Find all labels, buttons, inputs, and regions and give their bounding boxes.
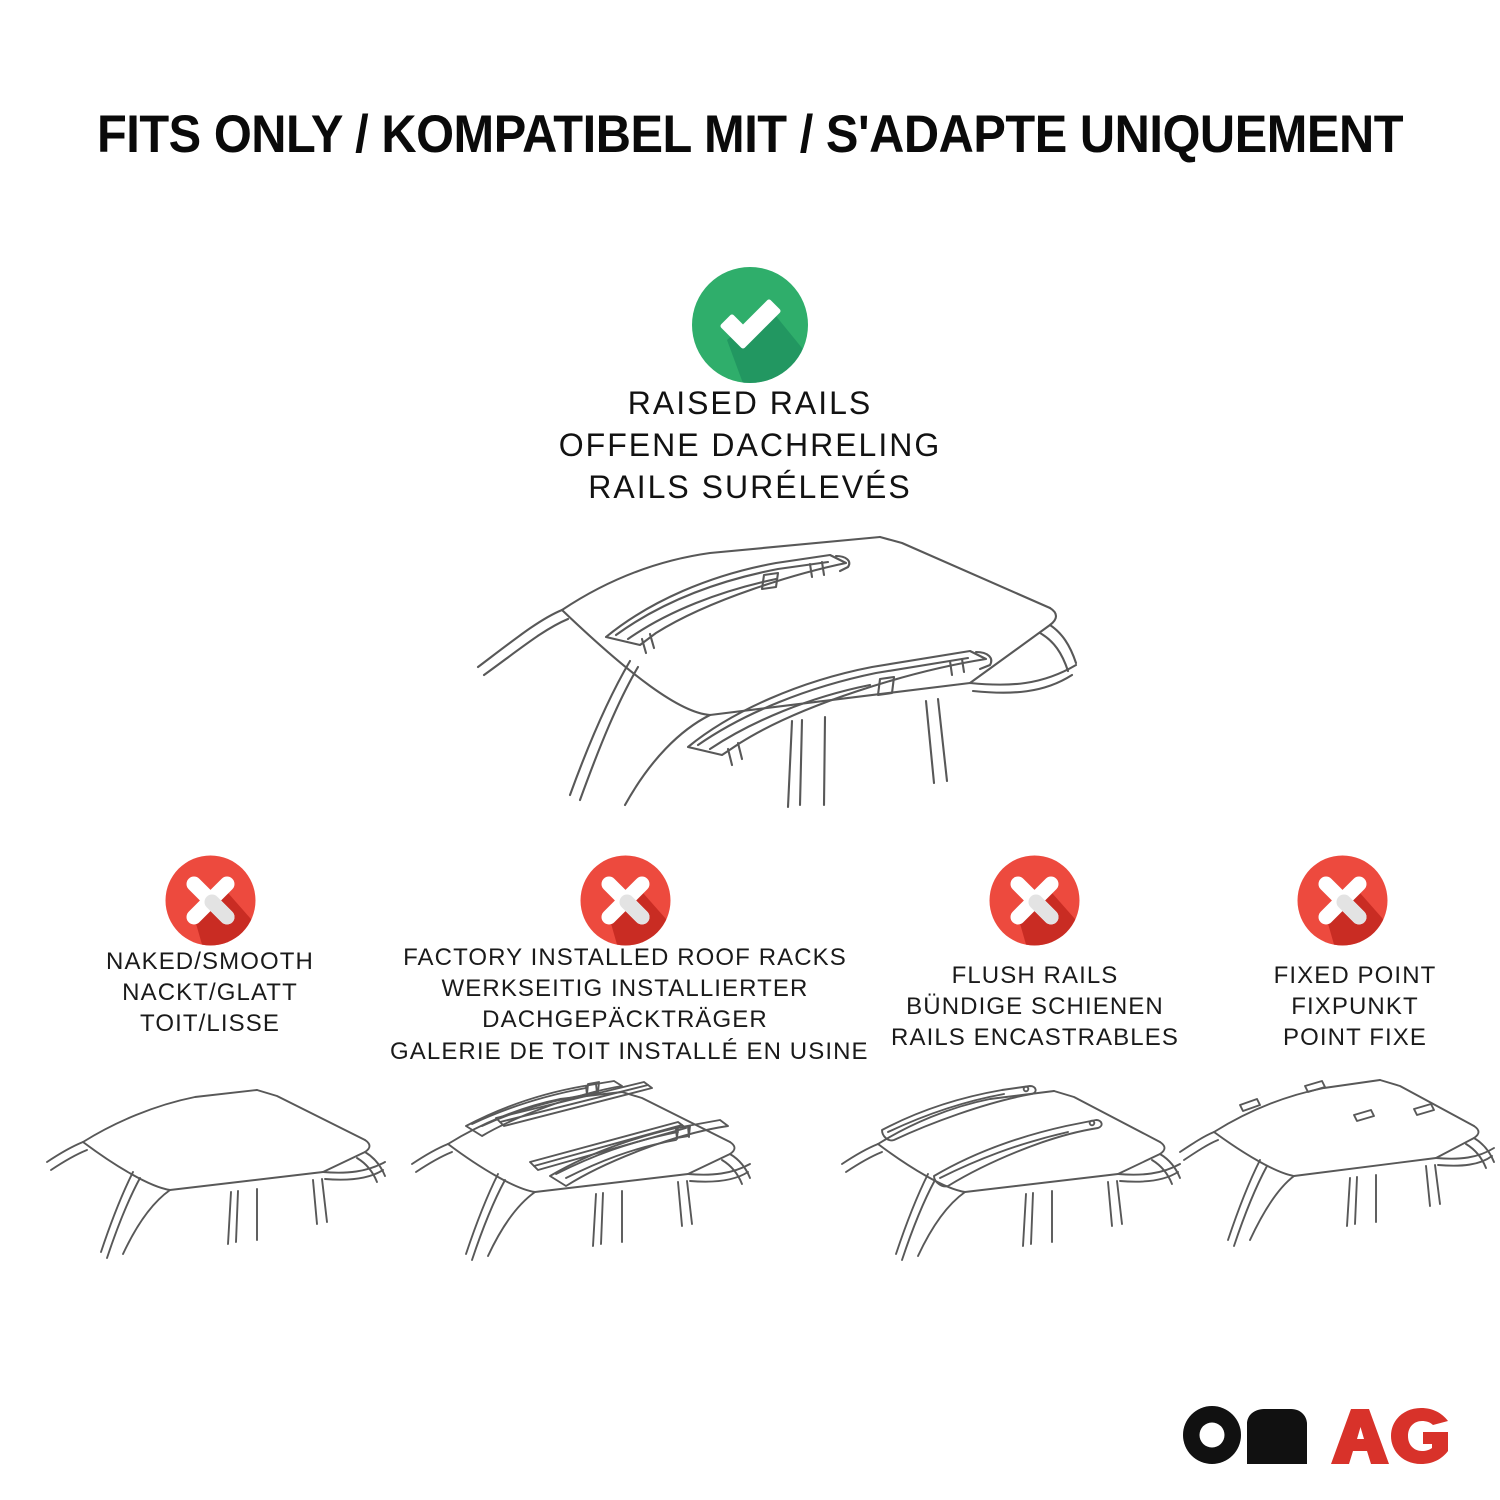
- page-title: FITS ONLY / KOMPATIBEL MIT / S'ADAPTE UN…: [60, 104, 1440, 165]
- label-line-2: FIXPUNKT: [1215, 991, 1495, 1022]
- roof-fixed-point-illustration: [1178, 1068, 1498, 1293]
- logo-letter-c: [1391, 1408, 1448, 1464]
- label-line-2: BÜNDIGE SCHIENEN: [855, 991, 1215, 1022]
- fitment-guide-page: FITS ONLY / KOMPATIBEL MIT / S'ADAPTE UN…: [0, 0, 1500, 1500]
- roof-flush-rails-illustration: [838, 1068, 1203, 1293]
- omac-logo: [1183, 1406, 1448, 1464]
- compatible-label: RAISED RAILS OFFENE DACHRELING RAILS SUR…: [0, 382, 1500, 509]
- label-line-2: WERKSEITIG INSTALLIERTER: [390, 973, 860, 1004]
- roof-with-raised-rails-illustration: [410, 515, 1100, 815]
- label-line-2: NACKT/GLATT: [35, 977, 385, 1008]
- compatible-label-line-1: RAISED RAILS: [0, 382, 1500, 424]
- label-line-3: DACHGEPÄCKTRÄGER: [390, 1004, 860, 1035]
- roof-naked-smooth-illustration: [45, 1072, 395, 1292]
- label-line-3: RAILS ENCASTRABLES: [855, 1022, 1215, 1053]
- label-line-1: NAKED/SMOOTH: [35, 946, 385, 977]
- label-line-1: FACTORY INSTALLED ROOF RACKS: [390, 942, 860, 973]
- label-line-1: FLUSH RAILS: [855, 960, 1215, 991]
- cross-circle-icon: [578, 853, 673, 948]
- incompatible-label-flush-rails: FLUSH RAILS BÜNDIGE SCHIENEN RAILS ENCAS…: [855, 960, 1215, 1054]
- incompatible-label-naked-smooth: NAKED/SMOOTH NACKT/GLATT TOIT/LISSE: [35, 946, 385, 1040]
- compatible-label-line-2: OFFENE DACHRELING: [0, 424, 1500, 466]
- label-line-3: POINT FIXE: [1215, 1022, 1495, 1053]
- logo-letter-o: [1183, 1406, 1241, 1464]
- compatible-label-line-3: RAILS SURÉLEVÉS: [0, 466, 1500, 508]
- cross-circle-icon: [163, 853, 258, 948]
- incompatible-label-fixed-point: FIXED POINT FIXPUNKT POINT FIXE: [1215, 960, 1495, 1054]
- roof-factory-racks-illustration: [408, 1062, 778, 1292]
- label-line-3: TOIT/LISSE: [35, 1008, 385, 1039]
- incompatible-label-factory-racks: FACTORY INSTALLED ROOF RACKS WERKSEITIG …: [390, 942, 860, 1067]
- logo-letter-m: [1247, 1409, 1307, 1464]
- cross-circle-icon: [1295, 853, 1390, 948]
- check-circle-icon: [689, 264, 811, 386]
- logo-letter-a: [1331, 1409, 1389, 1464]
- cross-circle-icon: [987, 853, 1082, 948]
- label-line-1: FIXED POINT: [1215, 960, 1495, 991]
